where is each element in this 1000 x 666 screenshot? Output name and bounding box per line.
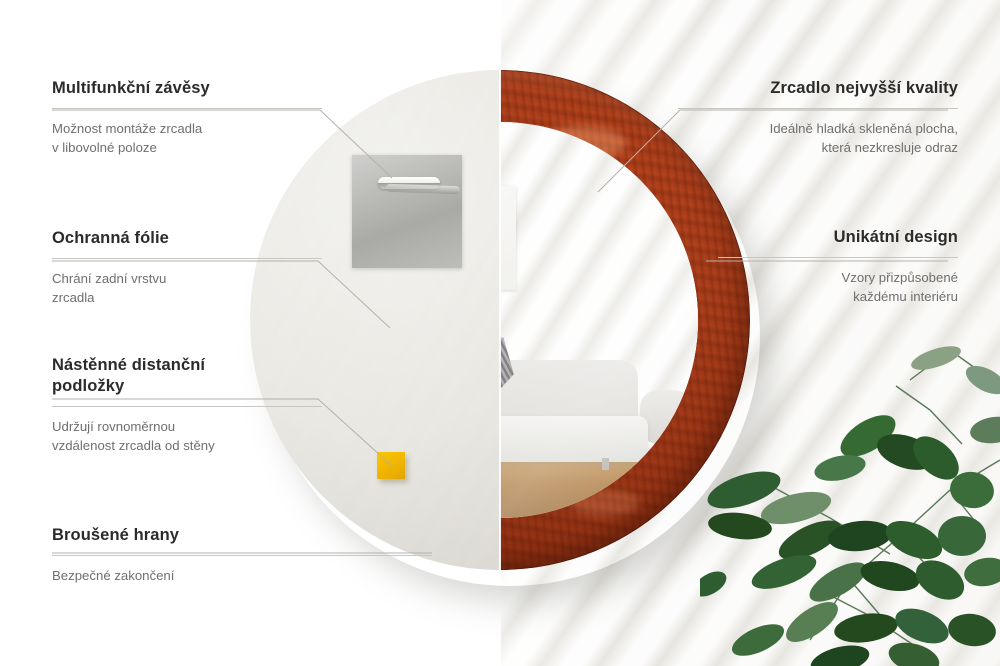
callout-title: Nástěnné distanční podložky xyxy=(52,355,322,397)
callout-title: Broušené hrany xyxy=(52,525,432,546)
yellow-spacer-pad xyxy=(377,452,405,479)
callout-description-line: která nezkresluje odraz xyxy=(678,138,958,157)
callout-description: Bezpečné zakončení xyxy=(52,566,432,585)
callout-description-line: každému interiéru xyxy=(718,287,958,306)
callout-description-line: Udržují rovnoměrnou xyxy=(52,417,322,436)
hanger-slot-shadow xyxy=(386,184,460,195)
callout-rule xyxy=(52,108,322,109)
callout-description: Možnost montáže zrcadla v libovolné polo… xyxy=(52,119,322,157)
mirror-split-seam xyxy=(499,70,501,570)
callout-title-line: Nástěnné distanční xyxy=(52,355,322,376)
callout-rule xyxy=(52,258,322,259)
hanger-plate xyxy=(352,155,462,268)
callout-title: Multifunkční závěsy xyxy=(52,78,322,99)
infographic-canvas: Multifunkční závěsy Možnost montáže zrca… xyxy=(0,0,1000,666)
callout-rule xyxy=(52,555,432,556)
callout-description-line: zrcadla xyxy=(52,288,322,307)
callout-protective-foil: Ochranná fólie Chrání zadní vrstvu zrcad… xyxy=(52,228,322,307)
callout-description-line: vzdálenost zrcadla od stěny xyxy=(52,436,322,455)
callout-description-line: Chrání zadní vrstvu xyxy=(52,269,322,288)
callout-title: Unikátní design xyxy=(718,227,958,248)
callout-description: Ideálně hladká skleněná plocha, která ne… xyxy=(678,119,958,157)
callout-rule xyxy=(52,406,322,407)
callout-wall-spacers: Nástěnné distanční podložky Udržují rovn… xyxy=(52,355,322,456)
callout-unique-design: Unikátní design Vzory přizpůsobené každé… xyxy=(718,227,958,306)
callout-description: Udržují rovnoměrnou vzdálenost zrcadla o… xyxy=(52,417,322,455)
callout-top-quality-mirror: Zrcadlo nejvyšší kvality Ideálně hladká … xyxy=(678,78,958,157)
callout-description-line: v libovolné poloze xyxy=(52,138,322,157)
callout-description-line: Bezpečné zakončení xyxy=(52,566,432,585)
callout-rule xyxy=(718,257,958,258)
callout-multifunctional-hangers: Multifunkční závěsy Možnost montáže zrca… xyxy=(52,78,322,157)
reflected-sofa-leg xyxy=(602,458,609,470)
callout-description-line: Možnost montáže zrcadla xyxy=(52,119,322,138)
callout-title: Ochranná fólie xyxy=(52,228,322,249)
callout-title-line: podložky xyxy=(52,376,322,397)
callout-description: Vzory přizpůsobené každému interiéru xyxy=(718,268,958,306)
callout-rule xyxy=(678,108,958,109)
callout-title: Zrcadlo nejvyšší kvality xyxy=(678,78,958,99)
houseplant-foliage xyxy=(700,340,1000,666)
callout-polished-edges: Broušené hrany Bezpečné zakončení xyxy=(52,525,432,585)
callout-description-line: Ideálně hladká skleněná plocha, xyxy=(678,119,958,138)
product-mirror xyxy=(250,70,750,570)
callout-description-line: Vzory přizpůsobené xyxy=(718,268,958,287)
callout-description: Chrání zadní vrstvu zrcadla xyxy=(52,269,322,307)
